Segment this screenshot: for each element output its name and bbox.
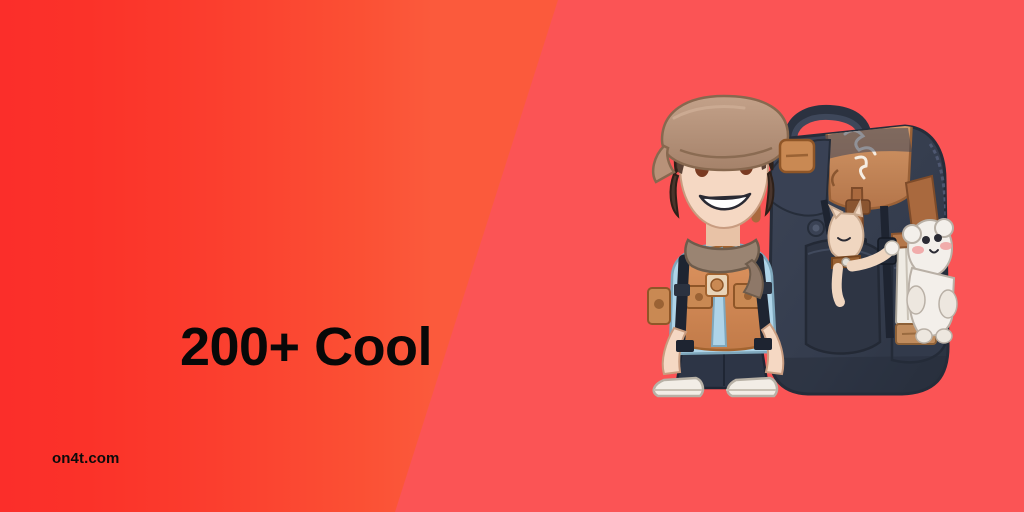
illustration-anime-backpack	[640, 88, 984, 432]
teddy-bear-plush	[903, 176, 957, 343]
banner-root: 200+ Cool Names of Brand Bags on4t.com	[0, 0, 1024, 512]
site-watermark: on4t.com	[52, 450, 119, 467]
headline-line-1: 200+ Cool	[0, 306, 612, 388]
